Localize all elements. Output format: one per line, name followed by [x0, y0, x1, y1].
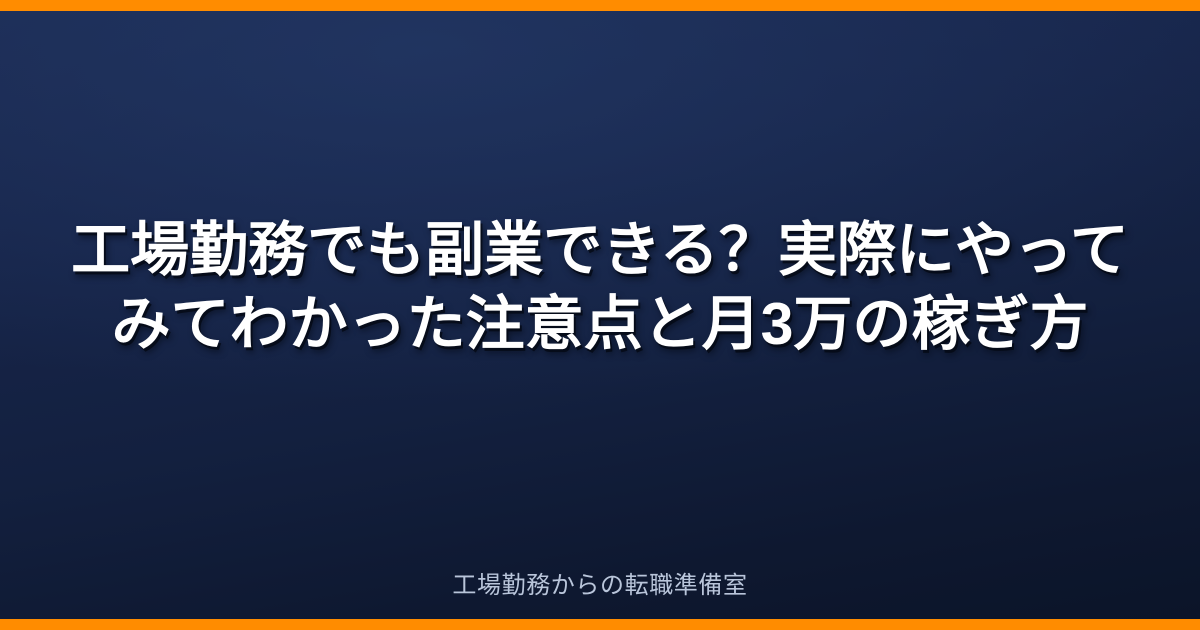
title-line-1: 工場勤務でも副業できる？実際にやって — [48, 213, 1152, 287]
title-line-2: みてわかった注意点と月3万の稼ぎ方 — [48, 287, 1152, 361]
site-name: 工場勤務からの転職準備室 — [0, 571, 1200, 601]
bottom-accent-bar — [0, 619, 1200, 630]
headline-inner: 工場勤務でも副業できる？実際にやって みてわかった注意点と月3万の稼ぎ方 — [48, 213, 1152, 361]
og-card: 工場勤務でも副業できる？実際にやって みてわかった注意点と月3万の稼ぎ方 工場勤… — [0, 0, 1200, 630]
headline-container: 工場勤務でも副業できる？実際にやって みてわかった注意点と月3万の稼ぎ方 — [0, 0, 1200, 630]
